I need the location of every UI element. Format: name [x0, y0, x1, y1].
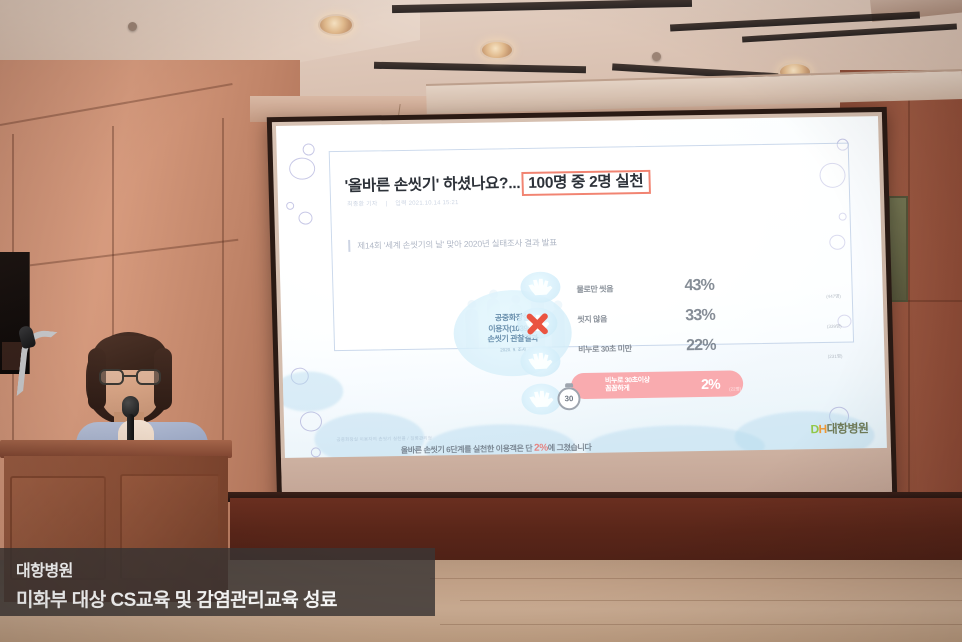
hand-not-washed-icon — [517, 307, 558, 339]
smoke-detector-1 — [128, 22, 137, 31]
logo-hospital-name: 대항병원 — [826, 421, 868, 436]
article-byline: 최종환 기자|입력 2021.10.14 15:21 — [347, 197, 459, 208]
floor-plank — [430, 578, 962, 579]
floor-plank — [440, 624, 962, 625]
statistic-value: 43% — [684, 277, 714, 295]
hand-icon — [526, 388, 557, 409]
caption-suffix: 에 그쳤습니다 — [548, 443, 592, 453]
article-headline: '올바른 손씻기' 하셨나요?...100명 중 2명 실천 — [344, 169, 650, 196]
floor-plank — [460, 600, 962, 601]
bubble-decoration — [289, 157, 316, 179]
slide-content: '올바른 손씻기' 하셨나요?...100명 중 2명 실천 최종환 기자|입력… — [329, 143, 857, 446]
headline-boxed-emphasis: 100명 중 2명 실천 — [521, 170, 651, 196]
glasses-lens-left — [99, 369, 124, 385]
stopwatch-icon: 30 — [557, 387, 581, 410]
bubble-decoration — [298, 211, 312, 224]
statistic-value: 33% — [685, 307, 715, 325]
highlight-label-line1: 비누로 30초이상 — [605, 377, 650, 385]
presenter-glasses — [99, 369, 161, 385]
statistic-row: 씻지 않음 33% (339명) — [569, 305, 844, 340]
statistic-count: (339명) — [827, 324, 842, 330]
caption-line-2: 미화부 대상 CS교육 및 감염관리교육 성료 — [0, 581, 435, 612]
glasses-bridge — [124, 375, 136, 377]
article-subheadline: 제14회 '세계 손씻기의 날' 맞아 2020년 실태조사 결과 발표 — [348, 236, 557, 251]
bubble-decoration — [302, 143, 314, 155]
projection-screen: '올바른 손씻기' 하셨나요?...100명 중 2명 실천 최종환 기자|입력… — [267, 107, 897, 507]
statistic-count: (22명) — [729, 386, 741, 392]
statistic-label: 씻지 않음 — [577, 312, 685, 325]
screen-surface: '올바른 손씻기' 하셨나요?...100명 중 2명 실천 최종환 기자|입력… — [272, 112, 892, 502]
caption-percent: 2% — [534, 443, 548, 454]
byline-date: 입력 2021.10.14 15:21 — [395, 200, 458, 207]
statistic-label: 비누로 30초이상 꼼꼼하게 — [605, 376, 701, 393]
ceiling-downlight-2 — [480, 40, 514, 60]
statistic-label: 비누로 30초 미만 — [578, 342, 686, 355]
projected-slide: '올바른 손씻기' 하셨나요?...100명 중 2명 실천 최종환 기자|입력… — [276, 116, 887, 460]
statistic-count: (231명) — [828, 354, 843, 360]
hand-soap-short-icon — [520, 345, 561, 377]
hand-icon — [525, 276, 556, 297]
highlight-label-line2: 꼼꼼하게 — [605, 385, 629, 392]
statistic-value: 2% — [701, 376, 720, 392]
x-mark-icon — [523, 309, 552, 337]
byline-separator: | — [386, 201, 388, 207]
circle-survey-note: 2020. 9. 조사 — [500, 347, 526, 353]
smoke-detector-2 — [652, 52, 661, 61]
hospital-logo: DH대항병원 — [810, 419, 868, 437]
bubble-decoration — [286, 202, 294, 210]
presentation-photo: '올바른 손씻기' 하셨나요?...100명 중 2명 실천 최종환 기자|입력… — [0, 0, 962, 642]
handheld-microphone — [122, 396, 139, 442]
caption-overlay: 대항병원 미화부 대상 CS교육 및 감염관리교육 성료 — [0, 548, 435, 616]
statistic-row: 물로만 씻음 43% (447명) — [568, 275, 843, 310]
headline-main: '올바른 손씻기' 하셨나요?... — [344, 175, 520, 195]
statistic-value: 22% — [686, 337, 716, 355]
statistics-list: 물로만 씻음 43% (447명) 씻지 않음 33% (339명) 비누로 3… — [568, 275, 845, 399]
cloud-decoration — [276, 371, 344, 412]
hand-icon — [525, 350, 556, 371]
ceiling-downlight-1 — [318, 14, 354, 36]
glasses-lens-right — [136, 369, 161, 385]
handwashing-infographic: 공중화장실 이용자(1039명) 손씻기 관찰결과 2020. 9. 조사 — [348, 261, 847, 455]
caption-line-1: 대항병원 — [0, 548, 435, 581]
byline-author: 최종환 기자 — [347, 201, 378, 208]
statistic-row: 비누로 30초 미만 22% (231명) — [570, 335, 845, 370]
statistic-count: (447명) — [826, 294, 841, 300]
statistic-row-highlighted: 비누로 30초이상 꼼꼼하게 2% (22명) — [571, 370, 744, 399]
hand-soap-long-icon — [521, 383, 562, 415]
wall-right-seam-1 — [908, 70, 910, 510]
statistic-label: 물로만 씻음 — [576, 282, 684, 295]
